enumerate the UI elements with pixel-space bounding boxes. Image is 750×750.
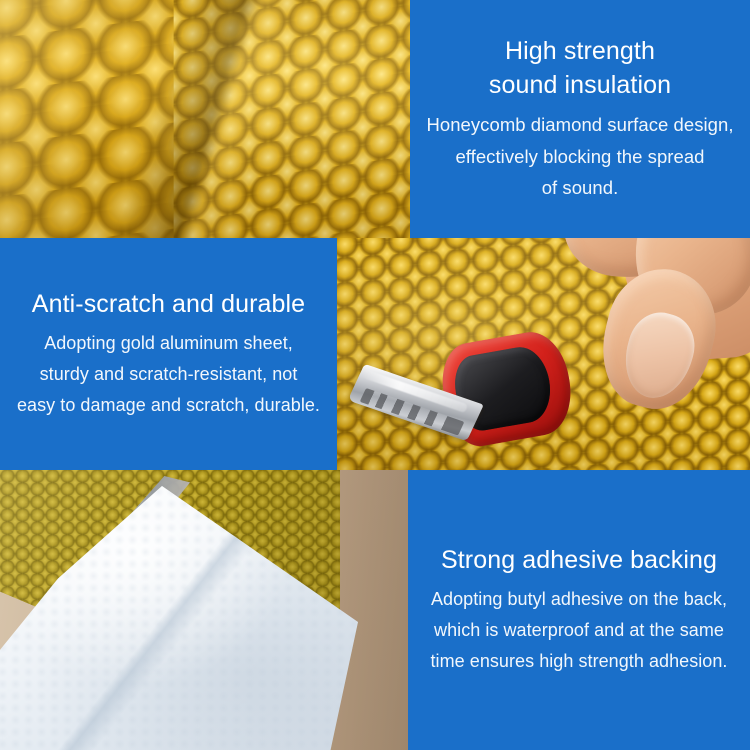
feature-body-sound-insulation: Honeycomb diamond surface design, effect… <box>426 109 733 204</box>
product-infographic: High strength sound insulation Honeycomb… <box>0 0 750 750</box>
photo-honeycomb-large <box>0 0 410 238</box>
feature-title-anti-scratch: Anti-scratch and durable <box>32 287 305 322</box>
feature-body-adhesive: Adopting butyl adhesive on the back, whi… <box>431 584 728 677</box>
feature-panel-adhesive: Strong adhesive backing Adopting butyl a… <box>408 470 750 750</box>
photo-key-scratch-test <box>337 238 750 470</box>
feature-panel-sound-insulation: High strength sound insulation Honeycomb… <box>410 0 750 238</box>
photo-adhesive-peel <box>0 470 408 750</box>
feature-body-anti-scratch: Adopting gold aluminum sheet, sturdy and… <box>17 328 320 421</box>
feature-title-sound-insulation: High strength sound insulation <box>489 34 671 103</box>
feature-title-adhesive: Strong adhesive backing <box>441 543 717 578</box>
car-key <box>347 324 586 470</box>
honeycomb-lighting-overlay <box>0 0 410 238</box>
feature-panel-anti-scratch: Anti-scratch and durable Adopting gold a… <box>0 238 337 470</box>
